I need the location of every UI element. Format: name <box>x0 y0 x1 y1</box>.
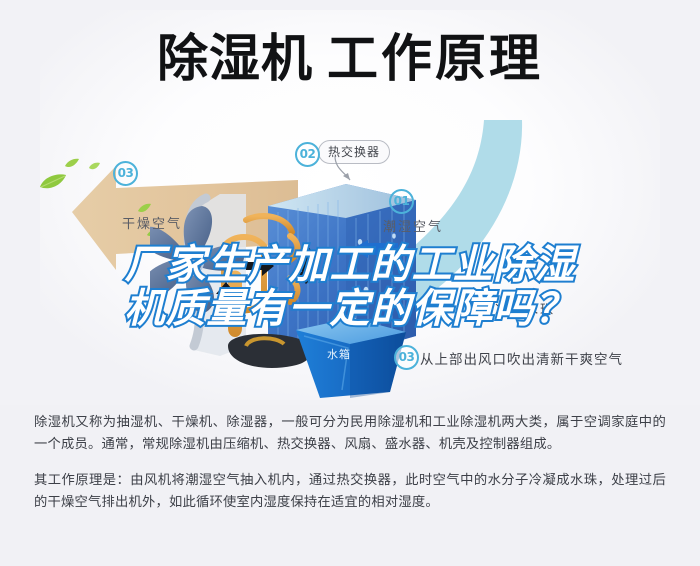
leaf-icon <box>38 172 68 192</box>
page-title: 除湿机工作原理 <box>0 30 700 90</box>
hero-diagram: 除湿机工作原理 <box>0 0 700 405</box>
inlet-arrow-icon <box>352 240 398 258</box>
step-three-description: 从上部出风口吹出清新干爽空气 <box>420 348 623 368</box>
article-body: 除湿机又称为抽湿机、干燥机、除湿器，一般可分为民用除湿机和工业除湿机两大类，属于… <box>0 412 700 522</box>
page-title-part2: 工作原理 <box>327 30 543 89</box>
step-number-03: 03 <box>394 345 419 370</box>
heat-exchanger-callout: 热交换器 <box>318 140 390 164</box>
label-dry-air: 干燥空气 <box>122 213 182 232</box>
body-paragraph-1: 除湿机又称为抽湿机、干燥机、除湿器，一般可分为民用除湿机和工业除湿机两大类，属于… <box>34 412 666 456</box>
step-number-02: 02 <box>295 142 320 167</box>
page-title-part1: 除湿机 <box>157 30 313 89</box>
leaf-icon <box>88 162 101 171</box>
leaf-icon <box>64 158 80 169</box>
water-tank-label: 水箱 <box>327 346 351 362</box>
label-condense-droplets: 凝成水珠 <box>495 299 555 318</box>
label-humid-air: 潮湿空气 <box>383 216 443 235</box>
step-number-03-left: 03 <box>113 161 138 186</box>
callout-pointer-icon <box>330 156 354 182</box>
step-number-01: 01 <box>389 189 414 214</box>
body-paragraph-2: 其工作原理是：由风机将潮湿空气抽入机内，通过热交换器，此时空气中的水分子冷凝成水… <box>34 470 666 514</box>
